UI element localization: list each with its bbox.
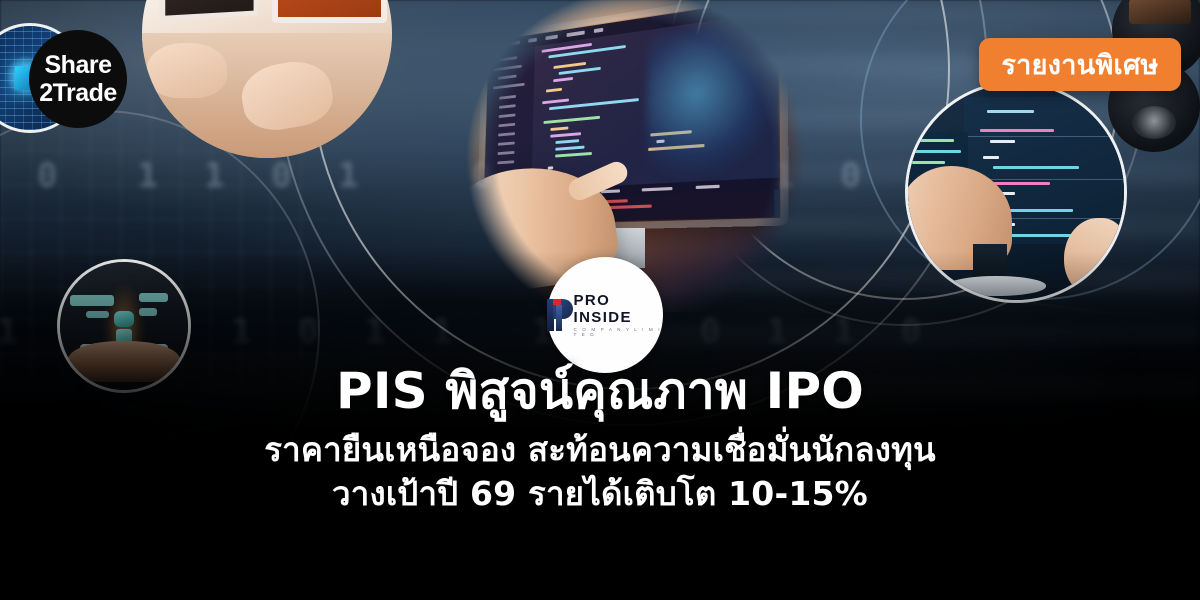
share2trade-line2: 2Trade — [39, 81, 117, 106]
p-mark-inner — [556, 305, 562, 331]
special-report-badge[interactable]: รายงานพิเศษ — [979, 38, 1181, 91]
headline-subtitle: ราคายืนเหนือจอง สะท้อนความเชื่อมั่นนักลง… — [0, 428, 1200, 515]
headline-sub-line-1: ราคายืนเหนือจอง สะท้อนความเชื่อมั่นนักลง… — [0, 428, 1200, 472]
logo-line-company-limited: C O M P A N Y L I M I T E D — [574, 328, 664, 337]
share2trade-line1: Share — [45, 53, 112, 78]
pro-inside-logo[interactable]: PRO INSIDE C O M P A N Y L I M I T E D — [547, 257, 663, 373]
logo-line-pro: PRO — [574, 293, 664, 308]
pro-inside-p-mark-icon — [547, 299, 568, 331]
pro-inside-logo-row: PRO INSIDE C O M P A N Y L I M I T E D — [547, 293, 663, 337]
p-mark-accent — [553, 299, 561, 305]
logo-line-inside: INSIDE — [574, 310, 664, 325]
special-report-badge-label: รายงานพิเศษ — [1001, 43, 1158, 86]
headline-sub-line-2: วางเป้าปี 69 รายได้เติบโต 10-15% — [0, 472, 1200, 516]
banner-canvas: 1 0 1 1 0 1 0 1 1 0 1 0 1 0 1 1 0 1 0 1 … — [0, 0, 1200, 600]
headline-title: PIS พิสูจน์คุณภาพ IPO — [0, 365, 1200, 418]
headline-block: PIS พิสูจน์คุณภาพ IPO ราคายืนเหนือจอง สะ… — [0, 365, 1200, 515]
pro-inside-wordmark: PRO INSIDE C O M P A N Y L I M I T E D — [574, 293, 664, 337]
share2trade-logo[interactable]: Share 2Trade — [29, 30, 127, 128]
